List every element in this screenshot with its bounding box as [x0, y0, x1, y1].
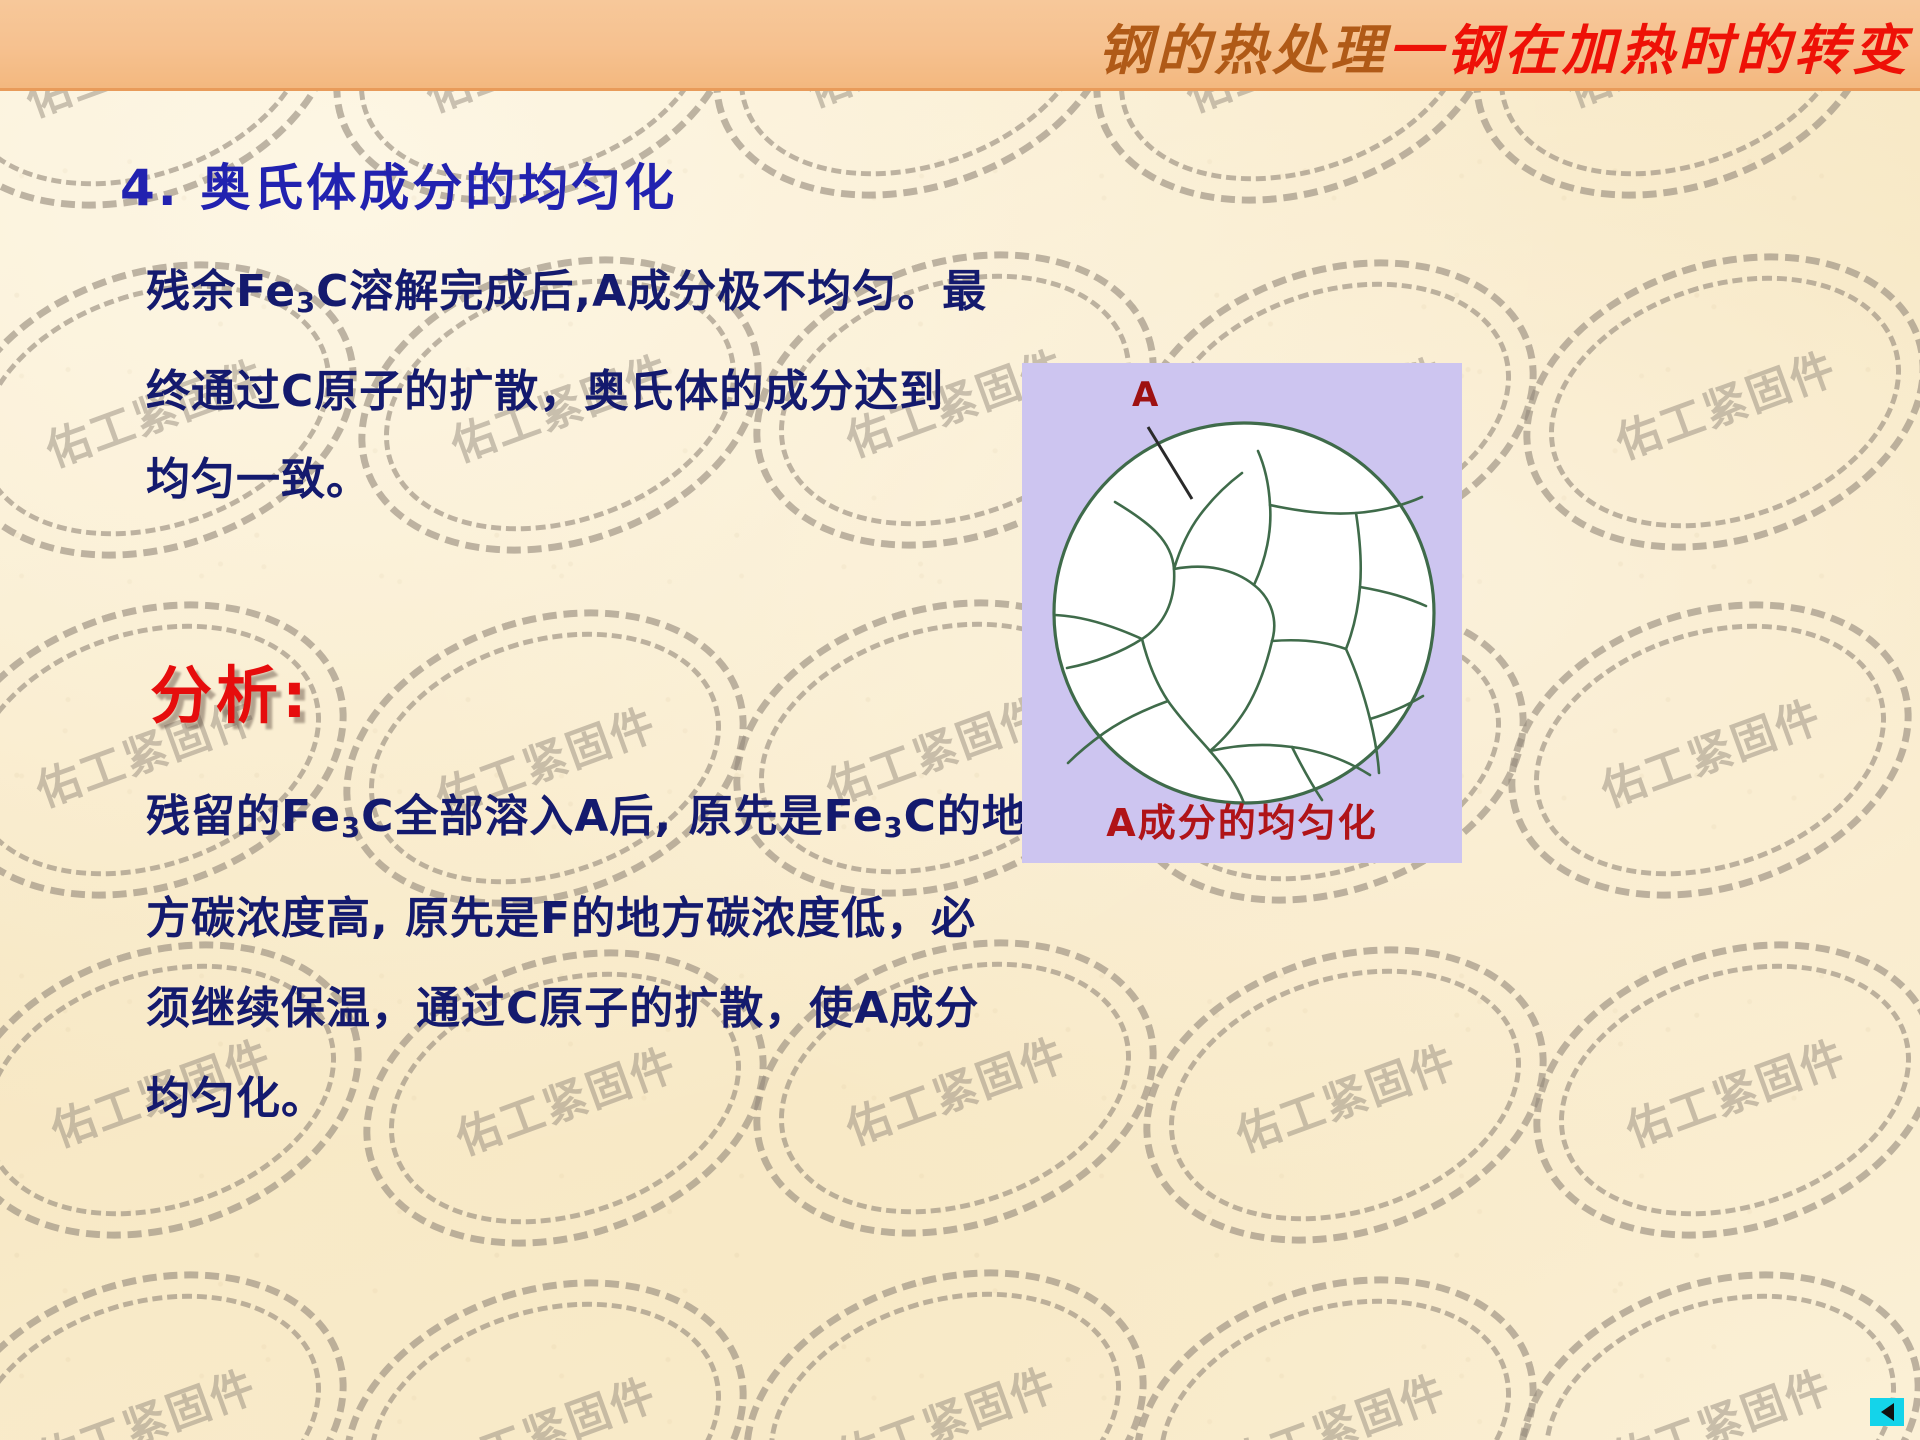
- watermark-ring-inner: [1526, 921, 1920, 1259]
- intro-line1-part-a: 残余Fe: [146, 266, 296, 317]
- analysis-line1-part-a: 残留的Fe: [146, 791, 341, 842]
- watermark-stamp: 佑工紧固件: [1520, 940, 1920, 1240]
- analysis-line1-subscript-a: 3: [341, 813, 361, 844]
- analysis-line1-part-c: C的地: [904, 791, 1027, 842]
- previous-slide-button[interactable]: [1870, 1398, 1904, 1426]
- watermark-ring-inner: [1501, 581, 1919, 919]
- slide-canvas: 佑工紧固件 佑工紧固件 佑工紧固件 佑工紧固件 佑工紧固件 佑工紧固件: [0, 0, 1920, 1440]
- watermark-ring-inner: [1126, 1256, 1544, 1440]
- section-heading: 4. 奥氏体成分的均匀化: [120, 148, 677, 220]
- micrograph-figure-panel: A A成分的均匀化: [1022, 363, 1462, 863]
- watermark-stamp: 佑工紧固件: [330, 1278, 760, 1440]
- watermark-text: 佑工紧固件: [1601, 1351, 1839, 1440]
- analysis-line1-subscript-b: 3: [884, 813, 904, 844]
- intro-paragraph-line-1: 残余Fe3C溶解完成后,A成分极不均匀。最: [146, 248, 987, 348]
- watermark-stamp: 佑工紧固件: [1495, 600, 1920, 900]
- watermark-ring-outer: [705, 1220, 1186, 1440]
- triangle-left-icon: [1881, 1403, 1894, 1421]
- watermark-ring-outer: [305, 1230, 786, 1440]
- watermark-stamp: 佑工紧固件: [1505, 1270, 1920, 1440]
- analysis-paragraph-line-2: 方碳浓度高, 原先是F的地方碳浓度低，必: [146, 874, 1027, 964]
- grain-label-a: A: [1132, 375, 1158, 415]
- watermark-ring-outer: [1095, 1227, 1576, 1440]
- analysis-line1-part-b: C全部溶入A后, 原先是Fe: [361, 791, 884, 842]
- intro-paragraph-line-3: 均匀一致。: [146, 436, 987, 524]
- watermark-stamp: 佑工紧固件: [0, 1270, 360, 1440]
- watermark-ring-inner: [736, 1249, 1154, 1440]
- watermark-text: 佑工紧固件: [26, 1351, 264, 1440]
- header-title-secondary: 一钢在加热时的转变: [1388, 19, 1910, 82]
- watermark-ring-outer: [0, 1222, 385, 1440]
- watermark-ring-outer: [1105, 897, 1586, 1293]
- austenite-grain-diagram: [1022, 363, 1462, 863]
- watermark-ring-outer: [1480, 1222, 1920, 1440]
- intro-line1-subscript: 3: [296, 288, 316, 319]
- watermark-stamp: 佑工紧固件: [1120, 1275, 1550, 1440]
- watermark-stamp: 佑工紧固件: [1130, 945, 1560, 1245]
- watermark-text: 佑工紧固件: [1591, 681, 1829, 820]
- watermark-text: 佑工紧固件: [426, 1359, 664, 1440]
- analysis-paragraph: 残留的Fe3C全部溶入A后, 原先是Fe3C的地 方碳浓度高, 原先是F的地方碳…: [146, 772, 1027, 1144]
- watermark-ring-inner: [336, 1259, 754, 1440]
- intro-line1-part-b: C溶解完成后,A成分极不均匀。最: [316, 266, 987, 317]
- watermark-ring-outer: [1470, 552, 1920, 948]
- watermark-text: 佑工紧固件: [826, 1349, 1064, 1440]
- watermark-ring-inner: [1516, 233, 1920, 571]
- watermark-text: 佑工紧固件: [1616, 1021, 1854, 1160]
- analysis-paragraph-line-3: 须继续保温，通过C原子的扩散，使A成分: [146, 964, 1027, 1054]
- page-title: 钢的热处理一钢在加热时的转变: [1098, 6, 1910, 85]
- watermark-stamp: 佑工紧固件: [730, 1268, 1160, 1440]
- watermark-ring-inner: [1511, 1251, 1920, 1440]
- header-band: 钢的热处理一钢在加热时的转变: [0, 0, 1920, 91]
- intro-paragraph-line-2: 终通过C原子的扩散，奥氏体的成分达到: [146, 348, 987, 436]
- watermark-ring-inner: [0, 1251, 354, 1440]
- analysis-heading: 分析:: [150, 645, 311, 735]
- header-title-primary: 钢的热处理: [1098, 19, 1388, 82]
- watermark-ring-outer: [1485, 204, 1920, 600]
- watermark-stamp: 佑工紧固件: [1510, 252, 1920, 552]
- watermark-text: 佑工紧固件: [1226, 1026, 1464, 1165]
- analysis-paragraph-line-1: 残留的Fe3C全部溶入A后, 原先是Fe3C的地: [146, 772, 1027, 874]
- watermark-ring-inner: [1136, 926, 1554, 1264]
- watermark-text: 佑工紧固件: [1606, 333, 1844, 472]
- watermark-ring-outer: [1495, 892, 1920, 1288]
- analysis-paragraph-line-4: 均匀化。: [146, 1054, 1027, 1144]
- figure-caption: A成分的均匀化: [1022, 792, 1462, 847]
- watermark-text: 佑工紧固件: [1216, 1356, 1454, 1440]
- intro-paragraph: 残余Fe3C溶解完成后,A成分极不均匀。最 终通过C原子的扩散，奥氏体的成分达到…: [146, 248, 987, 524]
